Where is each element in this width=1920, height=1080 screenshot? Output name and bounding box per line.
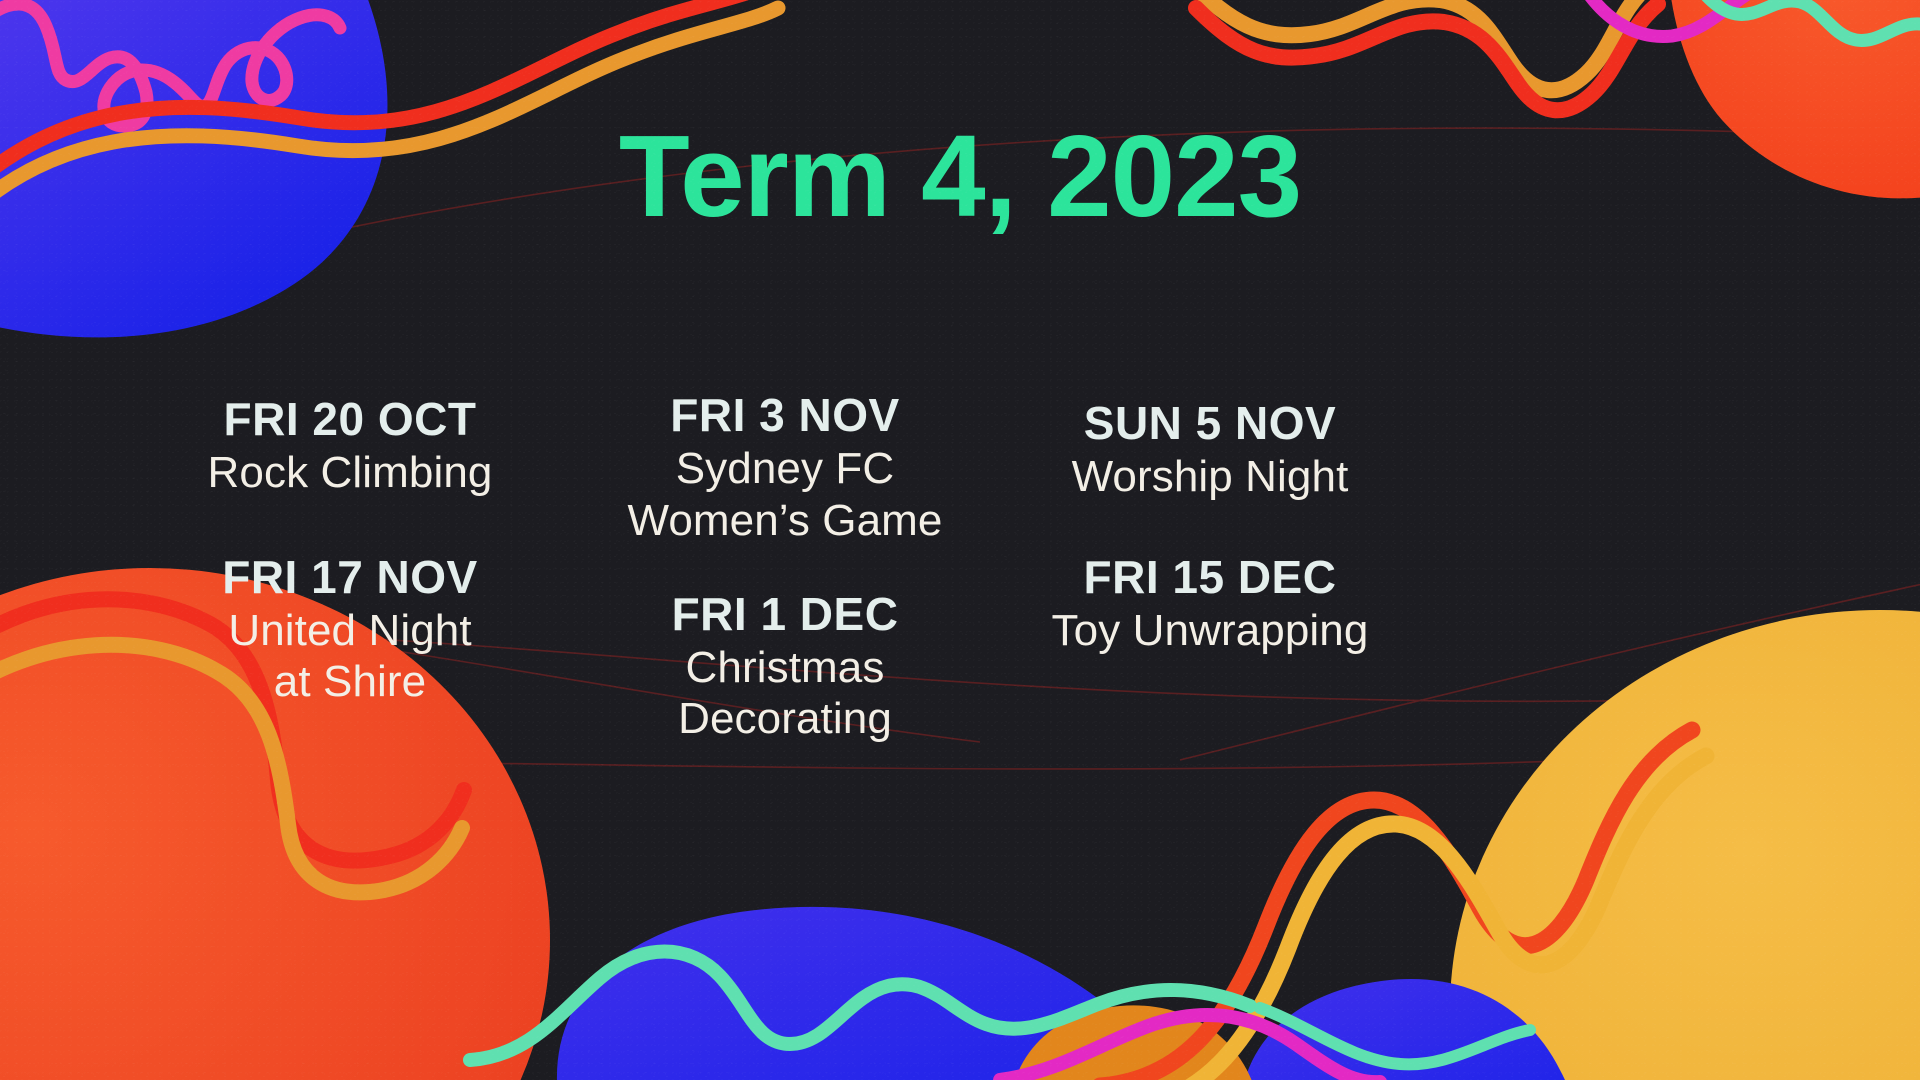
event-date: FRI 17 NOV xyxy=(140,550,560,604)
event-name-line: Decorating xyxy=(575,694,995,743)
event-date: SUN 5 NOV xyxy=(1000,396,1420,450)
event-name-line: Sydney FC xyxy=(575,444,995,493)
event-item: FRI 15 DEC Toy Unwrapping xyxy=(1000,550,1420,656)
poster-content: Term 4, 2023 FRI 20 OCT Rock Climbing FR… xyxy=(0,0,1920,1080)
event-name-line: Rock Climbing xyxy=(140,448,560,497)
event-item: FRI 3 NOV Sydney FC Women’s Game xyxy=(575,388,995,545)
event-item: FRI 1 DEC Christmas Decorating xyxy=(575,587,995,744)
events-column-middle: FRI 3 NOV Sydney FC Women’s Game FRI 1 D… xyxy=(575,388,995,752)
events-column-left: FRI 20 OCT Rock Climbing FRI 17 NOV Unit… xyxy=(140,392,560,714)
event-name-line: Women’s Game xyxy=(575,496,995,545)
event-name-line: at Shire xyxy=(140,657,560,706)
events-column-right: SUN 5 NOV Worship Night FRI 15 DEC Toy U… xyxy=(1000,396,1420,663)
event-item: FRI 20 OCT Rock Climbing xyxy=(140,392,560,498)
event-date: FRI 15 DEC xyxy=(1000,550,1420,604)
event-name-line: United Night xyxy=(140,606,560,655)
event-date: FRI 3 NOV xyxy=(575,388,995,442)
page-title: Term 4, 2023 xyxy=(0,118,1920,234)
event-date: FRI 1 DEC xyxy=(575,587,995,641)
event-item: SUN 5 NOV Worship Night xyxy=(1000,396,1420,502)
event-date: FRI 20 OCT xyxy=(140,392,560,446)
event-name-line: Toy Unwrapping xyxy=(1000,606,1420,655)
event-name-line: Christmas xyxy=(575,643,995,692)
event-item: FRI 17 NOV United Night at Shire xyxy=(140,550,560,707)
event-name-line: Worship Night xyxy=(1000,452,1420,501)
event-poster: Term 4, 2023 FRI 20 OCT Rock Climbing FR… xyxy=(0,0,1920,1080)
